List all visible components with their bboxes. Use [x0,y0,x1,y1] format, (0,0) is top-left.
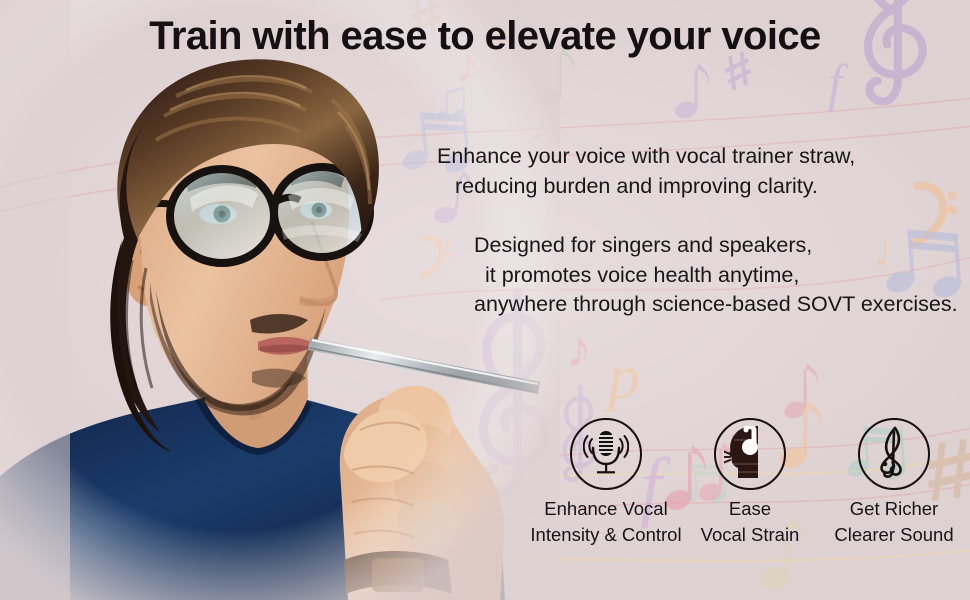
eighth-note-decoration-pink3 [782,363,818,421]
description-line: Enhance your voice with vocal trainer st… [437,144,855,168]
feature-label-line2: Vocal Strain [701,522,800,548]
description-line: reducing burden and improving clarity. [437,172,855,202]
description-paragraph-1: Enhance your voice with vocal trainer st… [437,142,855,201]
feature-label-line2: Clearer Sound [834,522,953,548]
feature-icon-circle [570,418,642,490]
feature-item-richer-sound: Get Richer Clearer Sound [828,418,960,549]
singing-head-icon [724,426,776,483]
feature-label-line2: Intensity & Control [530,522,681,548]
feature-icon-circle [858,418,930,490]
feature-icon-circle [714,418,786,490]
feature-label-line1: Ease [729,498,771,519]
page-title: Train with ease to elevate your voice [0,13,970,59]
promo-banner: p f f ♩ ♫ ♪ ♪ ♩ [0,0,970,600]
microphone-icon [583,428,629,481]
feature-list: Enhance Vocal Intensity & Control [540,418,960,549]
feature-label-line1: Enhance Vocal [544,498,667,519]
description-line: Designed for singers and speakers, [474,233,812,257]
note-decoration-pink: ♪ [566,321,592,378]
feature-label: Ease Vocal Strain [701,496,800,549]
forte-dynamic-decoration-top: f [828,55,849,112]
feature-item-enhance-vocal: Enhance Vocal Intensity & Control [540,418,672,549]
feature-label: Enhance Vocal Intensity & Control [530,496,681,549]
description-paragraph-2: Designed for singers and speakers, it pr… [474,231,958,320]
description-line: anywhere through science-based SOVT exer… [474,290,958,320]
piano-dynamic-decoration: p [604,341,640,412]
treble-clef-icon [877,426,911,483]
feature-item-ease-vocal-strain: Ease Vocal Strain [684,418,816,549]
eighth-note-decoration-purple [673,63,709,121]
feature-label-line1: Get Richer [850,498,938,519]
feature-label: Get Richer Clearer Sound [834,496,953,549]
description-line: it promotes voice health anytime, [474,261,958,291]
